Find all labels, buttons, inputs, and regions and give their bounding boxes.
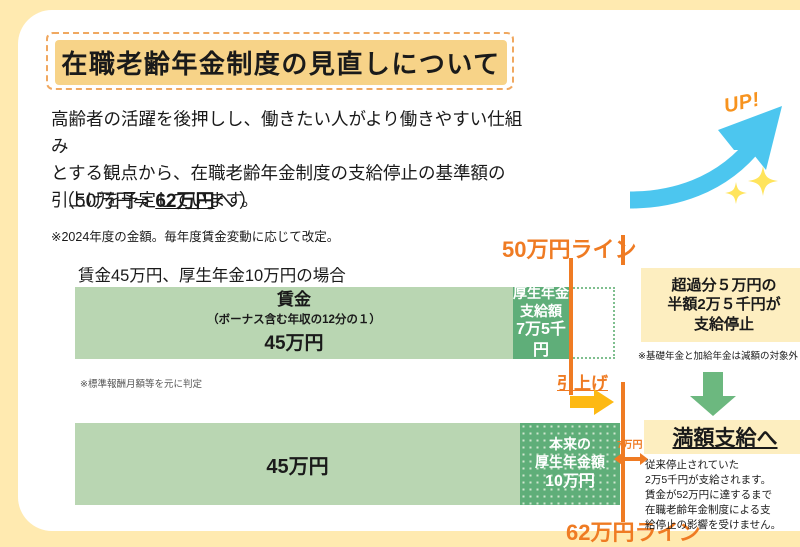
- chart-caption: 賃金45万円、厚生年金10万円の場合: [78, 262, 346, 286]
- bar-row-revised: 45万円 本来の 厚生年金額 10万円: [75, 423, 620, 505]
- page-title-frame: 在職老齢年金制度の見直しについて: [46, 32, 514, 90]
- result-body-line-2: 2万5千円が支給されます。: [645, 473, 800, 488]
- suspension-callout: 超過分５万円の 半額2万５千円が 支給停止: [641, 268, 800, 342]
- callout-footnote: ※基礎年金と加給年金は減額の対象外: [638, 348, 800, 362]
- bar1-pension-segment: 厚生年金 支給額 7万5千円: [513, 287, 569, 359]
- sparkle-icon-small: [725, 182, 747, 204]
- threshold-suffix: へ ）: [214, 191, 257, 212]
- page-title-band: 在職老齢年金制度の見直しについて: [55, 40, 507, 85]
- bar1-wage-amount: 45万円: [264, 328, 323, 355]
- threshold-change-line: （50万円⇒ 62万円へ ）: [56, 186, 258, 213]
- gap-label-7man: 7万円: [617, 436, 643, 451]
- up-curved-arrow-icon: [630, 88, 800, 218]
- threshold-prefix: （50万円⇒: [56, 191, 155, 212]
- sparkle-icon-large: [748, 166, 778, 196]
- right-arrow-icon: [570, 389, 614, 415]
- bar2-pension-label-2: 厚生年金額: [535, 454, 605, 472]
- result-body-line-5: 給停止の影響を受けません。: [645, 518, 800, 533]
- lead-line-2: とする観点から、在職老齢年金制度の支給停止の基準額の: [51, 160, 531, 187]
- lead-footnote: ※2024年度の金額。毎年度賃金変動に応じて改定。: [51, 226, 339, 245]
- threshold-new-amount: 62万円: [155, 191, 214, 212]
- page-card: 在職老齢年金制度の見直しについて 高齢者の活躍を後押しし、働きたい人がより働きや…: [18, 10, 800, 531]
- up-arrow-decoration: UP!: [630, 88, 800, 218]
- double-arrow-icon: [614, 452, 648, 466]
- bar1-suspended-placeholder: [569, 287, 615, 359]
- bar2-pension-label-1: 本来の: [549, 436, 591, 454]
- bar1-pension-amount: 7万5千円: [513, 320, 569, 361]
- lead-line-1: 高齢者の活躍を後押しし、働きたい人がより働きやすい仕組み: [51, 106, 531, 160]
- down-arrow-icon: [690, 372, 736, 416]
- result-heading-box: 満額支給へ: [644, 420, 800, 454]
- bar2-pension-segment: 本来の 厚生年金額 10万円: [520, 423, 620, 505]
- bar1-wage-title: 賃金: [277, 291, 311, 310]
- bar1-wage-sublabel: （ボーナス含む年収の12分の１）: [207, 311, 381, 327]
- bar1-pension-label-1: 厚生年金: [513, 285, 569, 303]
- bar-row-current: 賃金 （ボーナス含む年収の12分の１） 45万円 厚生年金 支給額 7万5千円: [75, 287, 569, 359]
- bar1-wage-segment: 賃金 （ボーナス含む年収の12分の１） 45万円: [75, 287, 513, 359]
- result-body-line-4: 在職老齢年金制度による支: [645, 503, 800, 518]
- bar1-pension-label-2: 支給額: [520, 303, 562, 321]
- result-body: 従来停止されていた 2万5千円が支給されます。 賃金が52万円に達するまで 在職…: [645, 458, 800, 533]
- bar2-wage-amount: 45万円: [266, 450, 328, 479]
- callout-line-3: 支給停止: [694, 315, 754, 335]
- result-body-line-1: 従来停止されていた: [645, 458, 800, 473]
- result-body-line-3: 賃金が52万円に達するまで: [645, 488, 800, 503]
- bar2-wage-segment: 45万円: [75, 423, 520, 505]
- bar2-pension-amount: 10万円: [545, 472, 595, 492]
- result-heading: 満額支給へ: [673, 422, 778, 452]
- chart-note: ※標準報酬月額等を元に判定: [80, 376, 202, 390]
- reference-label-50: 50万円ライン: [502, 232, 636, 264]
- callout-line-2: 半額2万５千円が: [667, 295, 780, 315]
- page-title: 在職老齢年金制度の見直しについて: [61, 44, 500, 81]
- callout-line-1: 超過分５万円の: [671, 276, 776, 296]
